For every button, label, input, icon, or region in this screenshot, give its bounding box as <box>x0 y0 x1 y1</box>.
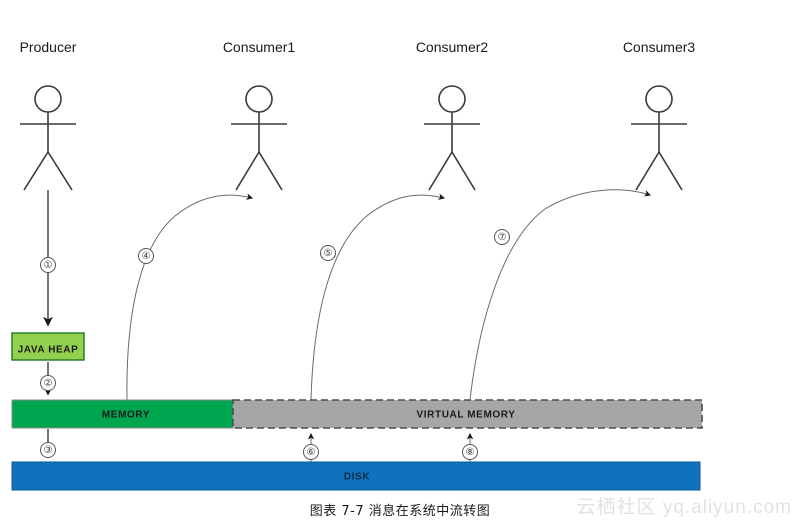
step-badge-8-label: ⑧ <box>466 447 475 458</box>
flow-diagram-svg: Producer Consumer1 Consumer2 Consumer3 <box>0 0 800 525</box>
box-virtual-memory[interactable]: VIRTUAL MEMORY <box>233 400 702 428</box>
actor-label-consumer2: Consumer2 <box>416 39 489 55</box>
actor-label-consumer3: Consumer3 <box>623 39 696 55</box>
step-badge-5-label: ⑤ <box>324 248 333 259</box>
step-badge-5: ⑤ <box>321 246 336 261</box>
figure-caption: 图表 7-7 消息在系统中流转图 <box>0 500 800 519</box>
actor-label-producer: Producer <box>20 39 77 55</box>
stick-figure-producer <box>20 86 76 190</box>
box-label-virtual-memory: VIRTUAL MEMORY <box>417 410 516 421</box>
step-badge-3-label: ③ <box>44 445 53 456</box>
step-badge-4: ④ <box>139 249 154 264</box>
step-badge-7-label: ⑦ <box>498 232 507 243</box>
stick-figure-consumer2 <box>424 86 480 190</box>
step-badge-8: ⑧ <box>463 445 478 460</box>
flow-arrow-virtual-memory-to-consumer3 <box>470 190 650 400</box>
stick-figure-consumer1 <box>231 86 287 190</box>
flow-arrow-virtual-memory-to-consumer2 <box>311 195 444 400</box>
step-badge-2: ② <box>41 376 56 391</box>
stick-figure-consumer3 <box>631 86 687 190</box>
step-badge-4-label: ④ <box>142 251 151 262</box>
step-badge-7: ⑦ <box>495 230 510 245</box>
diagram-canvas: Producer Consumer1 Consumer2 Consumer3 <box>0 0 800 525</box>
step-badge-6: ⑥ <box>304 445 319 460</box>
actor-label-consumer1: Consumer1 <box>223 39 296 55</box>
flow-arrow-memory-to-consumer1 <box>127 195 252 400</box>
step-badge-1-label: ① <box>44 260 53 271</box>
step-badge-6-label: ⑥ <box>307 447 316 458</box>
box-memory[interactable]: MEMORY <box>12 400 233 428</box>
step-badge-1: ① <box>41 258 56 273</box>
step-badge-3: ③ <box>41 443 56 458</box>
step-badge-2-label: ② <box>44 378 53 389</box>
box-disk[interactable]: DISK <box>12 462 700 490</box>
box-label-disk: DISK <box>344 472 370 483</box>
box-java-heap[interactable]: JAVA HEAP <box>12 333 84 360</box>
box-label-java-heap: JAVA HEAP <box>18 345 79 356</box>
box-label-memory: MEMORY <box>102 410 150 421</box>
